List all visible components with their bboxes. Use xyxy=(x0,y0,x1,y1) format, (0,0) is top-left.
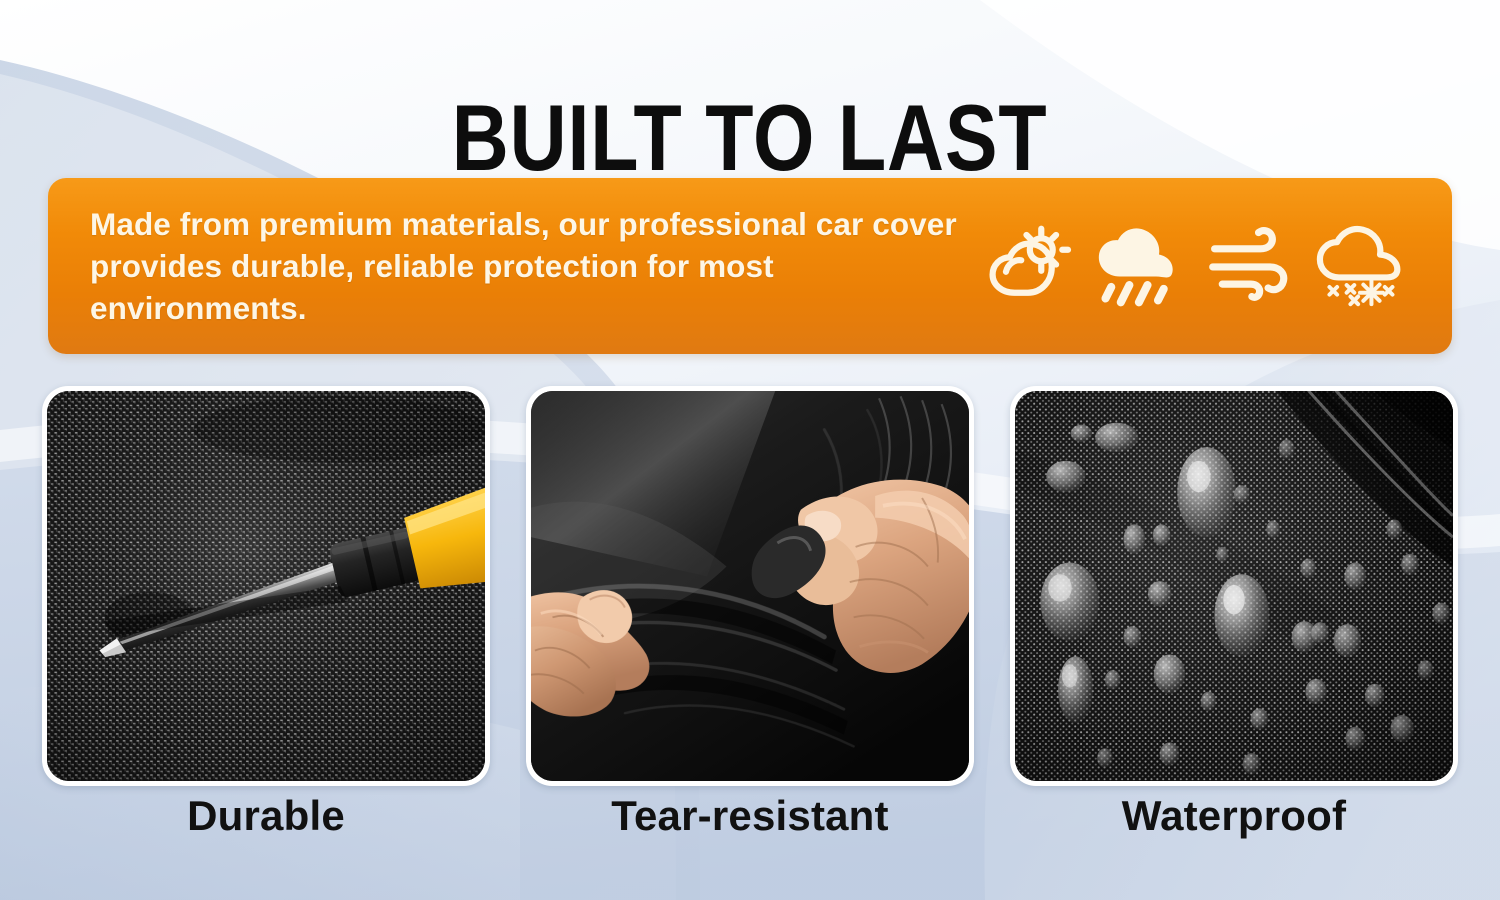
feature-panel-durable xyxy=(42,386,490,786)
feature-panel-waterproof xyxy=(1010,386,1458,786)
feature-panels xyxy=(42,386,1458,786)
banner-description: Made from premium materials, our profess… xyxy=(90,203,970,330)
page-title: BUILT TO LAST xyxy=(452,89,1048,188)
caption-waterproof: Waterproof xyxy=(1010,792,1458,840)
feature-panel-tear-resistant xyxy=(526,386,974,786)
rain-cloud-icon xyxy=(1089,224,1185,308)
weather-icon-group xyxy=(970,178,1426,354)
hands-stretching-fabric-photo xyxy=(531,391,969,781)
water-beading-fabric-photo xyxy=(1015,391,1453,781)
promo-banner: Made from premium materials, our profess… xyxy=(48,178,1452,354)
snow-cloud-icon xyxy=(1312,224,1408,308)
sun-behind-cloud-icon xyxy=(978,224,1074,308)
woven-fabric-with-screwdriver-photo xyxy=(47,391,485,781)
infographic-canvas: BUILT TO LAST Made from premium material… xyxy=(0,0,1500,900)
feature-captions: Durable Tear-resistant Waterproof xyxy=(42,792,1458,840)
caption-tear-resistant: Tear-resistant xyxy=(526,792,974,840)
wind-icon xyxy=(1201,224,1297,308)
caption-durable: Durable xyxy=(42,792,490,840)
